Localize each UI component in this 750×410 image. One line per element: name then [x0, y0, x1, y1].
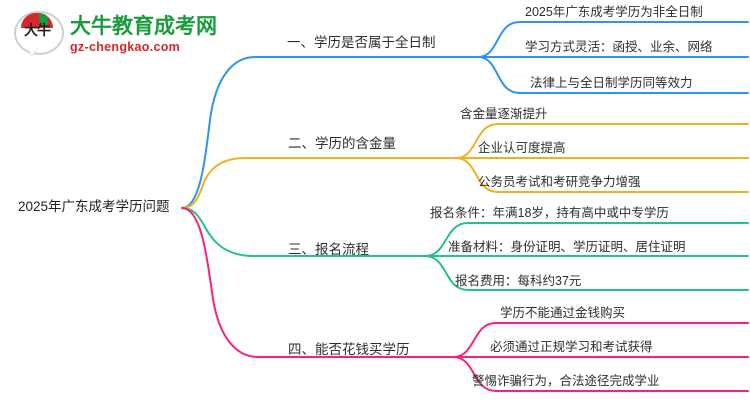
branch-1-spine — [182, 57, 478, 208]
mindmap-leaf-4-2[interactable]: 必须通过正规学习和考试获得 — [490, 341, 653, 354]
mindmap-leaf-2-1[interactable]: 含金量逐渐提升 — [460, 108, 548, 121]
mindmap-leaf-4-3[interactable]: 警惕诈骗行为，合法途径完成学业 — [472, 375, 660, 388]
mindmap-leaf-3-3[interactable]: 报名费用：每科约37元 — [455, 275, 581, 288]
mindmap-topic-2[interactable]: 二、学历的含金量 — [288, 137, 396, 151]
mindmap-leaf-4-1[interactable]: 学历不能通过金钱购买 — [500, 307, 625, 320]
mindmap-leaf-2-3[interactable]: 公务员考试和考研竞争力增强 — [478, 176, 641, 189]
branch-4-spine — [182, 208, 453, 357]
branch-2-connectors — [182, 124, 748, 208]
branch-4-connectors — [182, 208, 748, 391]
mindmap-topic-4[interactable]: 四、能否花钱买学历 — [288, 343, 410, 357]
mindmap-leaf-3-2[interactable]: 准备材料：身份证明、学历证明、居住证明 — [448, 241, 686, 254]
mindmap-leaf-3-1[interactable]: 报名条件：年满18岁，持有高中或中专学历 — [430, 207, 669, 220]
mindmap-leaf-2-2[interactable]: 企业认可度提高 — [478, 142, 566, 155]
mindmap-topic-1[interactable]: 一、学历是否属于全日制 — [287, 36, 436, 50]
mindmap-root-node[interactable]: 2025年广东成考学历问题 — [18, 200, 170, 214]
mindmap-leaf-1-2[interactable]: 学习方式灵活：函授、业余、网络 — [525, 41, 713, 54]
mindmap-topic-3[interactable]: 三、报名流程 — [288, 243, 369, 257]
branch-2-spine — [182, 158, 456, 208]
mindmap-leaf-1-3[interactable]: 法律上与全日制学历同等效力 — [530, 77, 693, 90]
mindmap-leaf-1-1[interactable]: 2025年广东成考学历为非全日制 — [525, 6, 703, 19]
